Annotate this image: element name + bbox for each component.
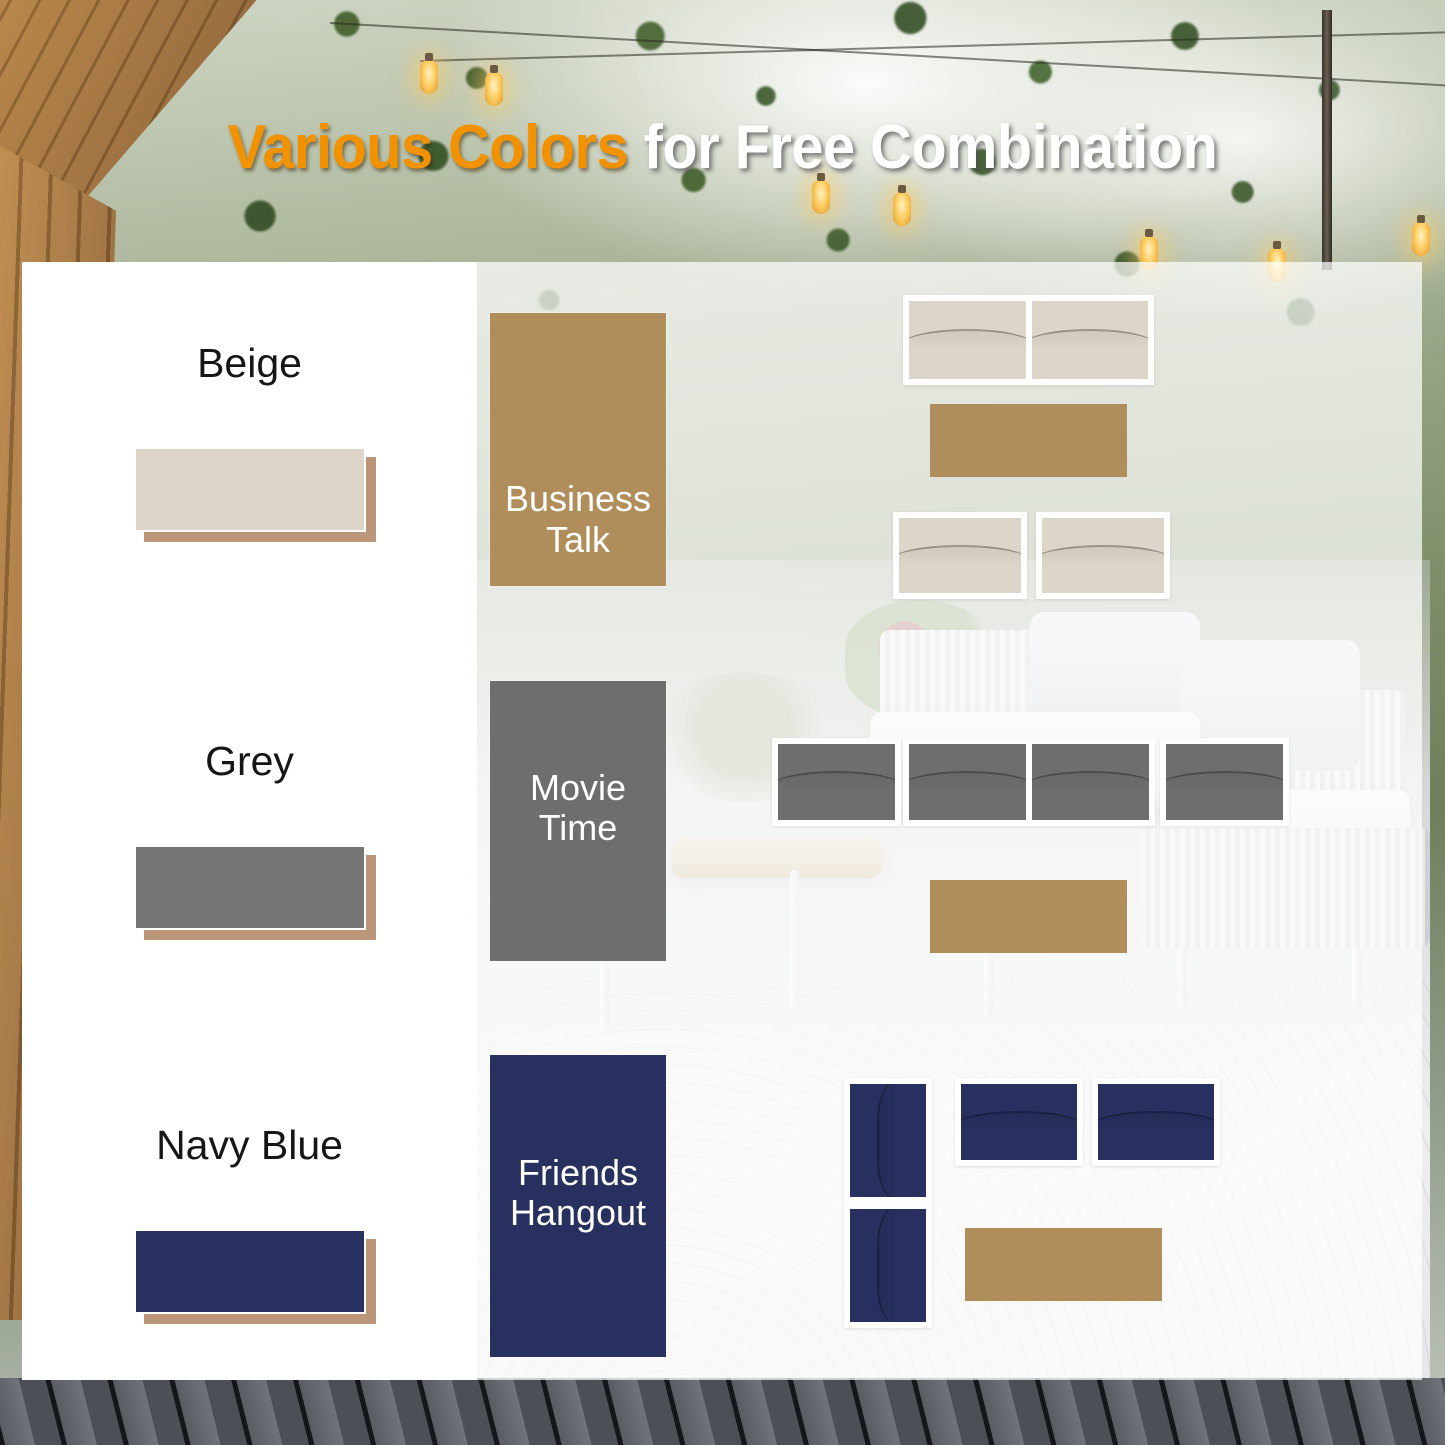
scene-line-2: Talk [505,520,651,560]
light-bulb [893,192,911,226]
light-bulb [1412,222,1430,256]
table-slab-grey-scene[interactable] [930,880,1127,953]
scene-line-1: Friends [510,1153,646,1193]
scene-label-movie-time: Movie Time [530,768,626,849]
table-slab-beige-scene[interactable] [930,404,1127,477]
swatch-chip-wrap-beige [134,447,366,532]
color-swatch-navy[interactable] [134,1229,366,1314]
cushion-grey[interactable] [909,744,1026,820]
swatch-label-grey: Grey [22,738,477,785]
light-bulb [485,72,503,106]
scene-line-1: Business [505,479,651,519]
cushion-beige[interactable] [1042,518,1164,593]
cushion-group-navy-horizontal-left[interactable] [955,1078,1083,1166]
scene-block-movie-time[interactable]: Movie Time [490,681,666,961]
swatch-beige: Beige [22,340,477,532]
cushion-navy[interactable] [850,1084,926,1197]
scene-line-1: Movie [530,768,626,808]
cushion-grey[interactable] [1166,744,1283,820]
scene-label-business-talk: Business Talk [505,479,651,560]
cushion-group-beige-single-right[interactable] [1036,512,1170,599]
light-bulb [420,60,438,94]
cushion-group-beige-pair[interactable] [903,295,1154,385]
cushion-group-navy-vertical-bottom[interactable] [844,1203,932,1328]
cushion-beige[interactable] [909,301,1026,379]
color-swatch-grey[interactable] [134,845,366,930]
scene-label-friends-hangout: Friends Hangout [510,1153,646,1234]
scene-line-2: Hangout [510,1193,646,1233]
cushion-navy[interactable] [961,1084,1077,1160]
cushion-beige[interactable] [1032,301,1149,379]
cushion-group-navy-horizontal-right[interactable] [1092,1078,1220,1166]
deck-floor [0,1378,1445,1445]
cushion-navy[interactable] [850,1209,926,1322]
cushion-group-grey-pair[interactable] [903,738,1155,826]
page-title: Various Colors for Free Combination [51,112,1395,183]
title-accent-text: Various Colors [228,113,628,182]
swatch-grey: Grey [22,738,477,930]
swatch-chip-wrap-navy [134,1229,366,1314]
swatch-label-navy: Navy Blue [22,1122,477,1169]
swatch-chip-wrap-grey [134,845,366,930]
scene-block-friends-hangout[interactable]: Friends Hangout [490,1055,666,1357]
swatch-navy: Navy Blue [22,1122,477,1314]
cushion-grey[interactable] [778,744,895,820]
cushion-group-beige-single-left[interactable] [893,512,1027,599]
swatch-label-beige: Beige [22,340,477,387]
cushion-group-grey-single-left[interactable] [772,738,901,826]
table-slab-navy-scene[interactable] [965,1228,1162,1301]
light-bulb [812,180,830,214]
scene-line-2: Time [530,808,626,848]
scene-block-business-talk[interactable]: Business Talk [490,313,666,586]
cushion-group-navy-vertical-top[interactable] [844,1078,932,1203]
color-swatch-beige[interactable] [134,447,366,532]
cushion-grey[interactable] [1032,744,1149,820]
cushion-beige[interactable] [899,518,1021,593]
cushion-navy[interactable] [1098,1084,1214,1160]
product-infographic: Various Colors for Free Combination Beig… [0,0,1445,1445]
title-main-text: for Free Combination [628,113,1217,182]
cushion-group-grey-single-right[interactable] [1160,738,1289,826]
